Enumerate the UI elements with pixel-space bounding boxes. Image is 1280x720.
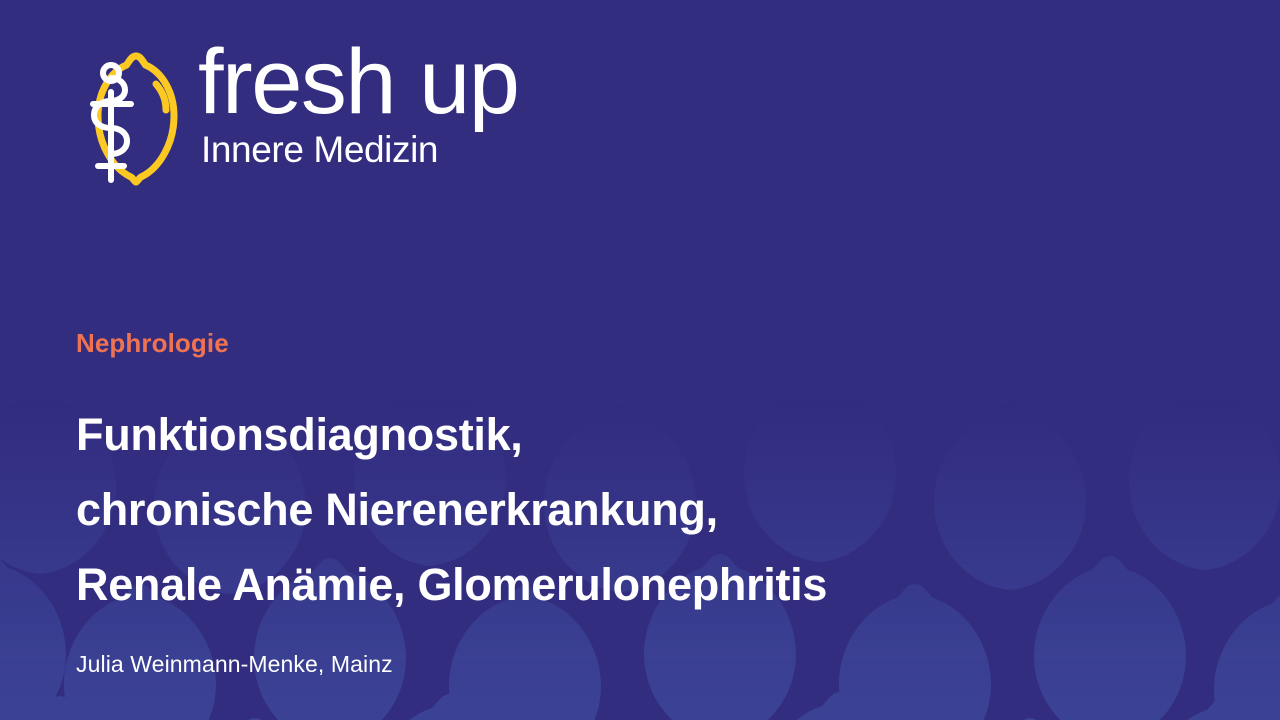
page-title: Funktionsdiagnostik, chronische Nierener… (76, 397, 1196, 622)
slide-content: Nephrologie Funktionsdiagnostik, chronis… (76, 328, 1196, 678)
title-line-2: chronische Nierenerkrankung, (76, 472, 1196, 547)
title-line-3: Renale Anämie, Glomerulonephritis (76, 547, 1196, 622)
logo-tagline: Innere Medizin (201, 131, 518, 168)
title-line-1: Funktionsdiagnostik, (76, 397, 1196, 472)
topic-label: Nephrologie (76, 328, 1196, 359)
title-slide: fresh up Innere Medizin Nephrologie Funk… (0, 0, 1280, 720)
author-byline: Julia Weinmann-Menke, Mainz (76, 651, 1196, 678)
lemon-asclepius-icon (80, 48, 184, 188)
brand-logo: fresh up Innere Medizin (80, 46, 518, 188)
logo-wordmark: fresh up (198, 40, 518, 125)
